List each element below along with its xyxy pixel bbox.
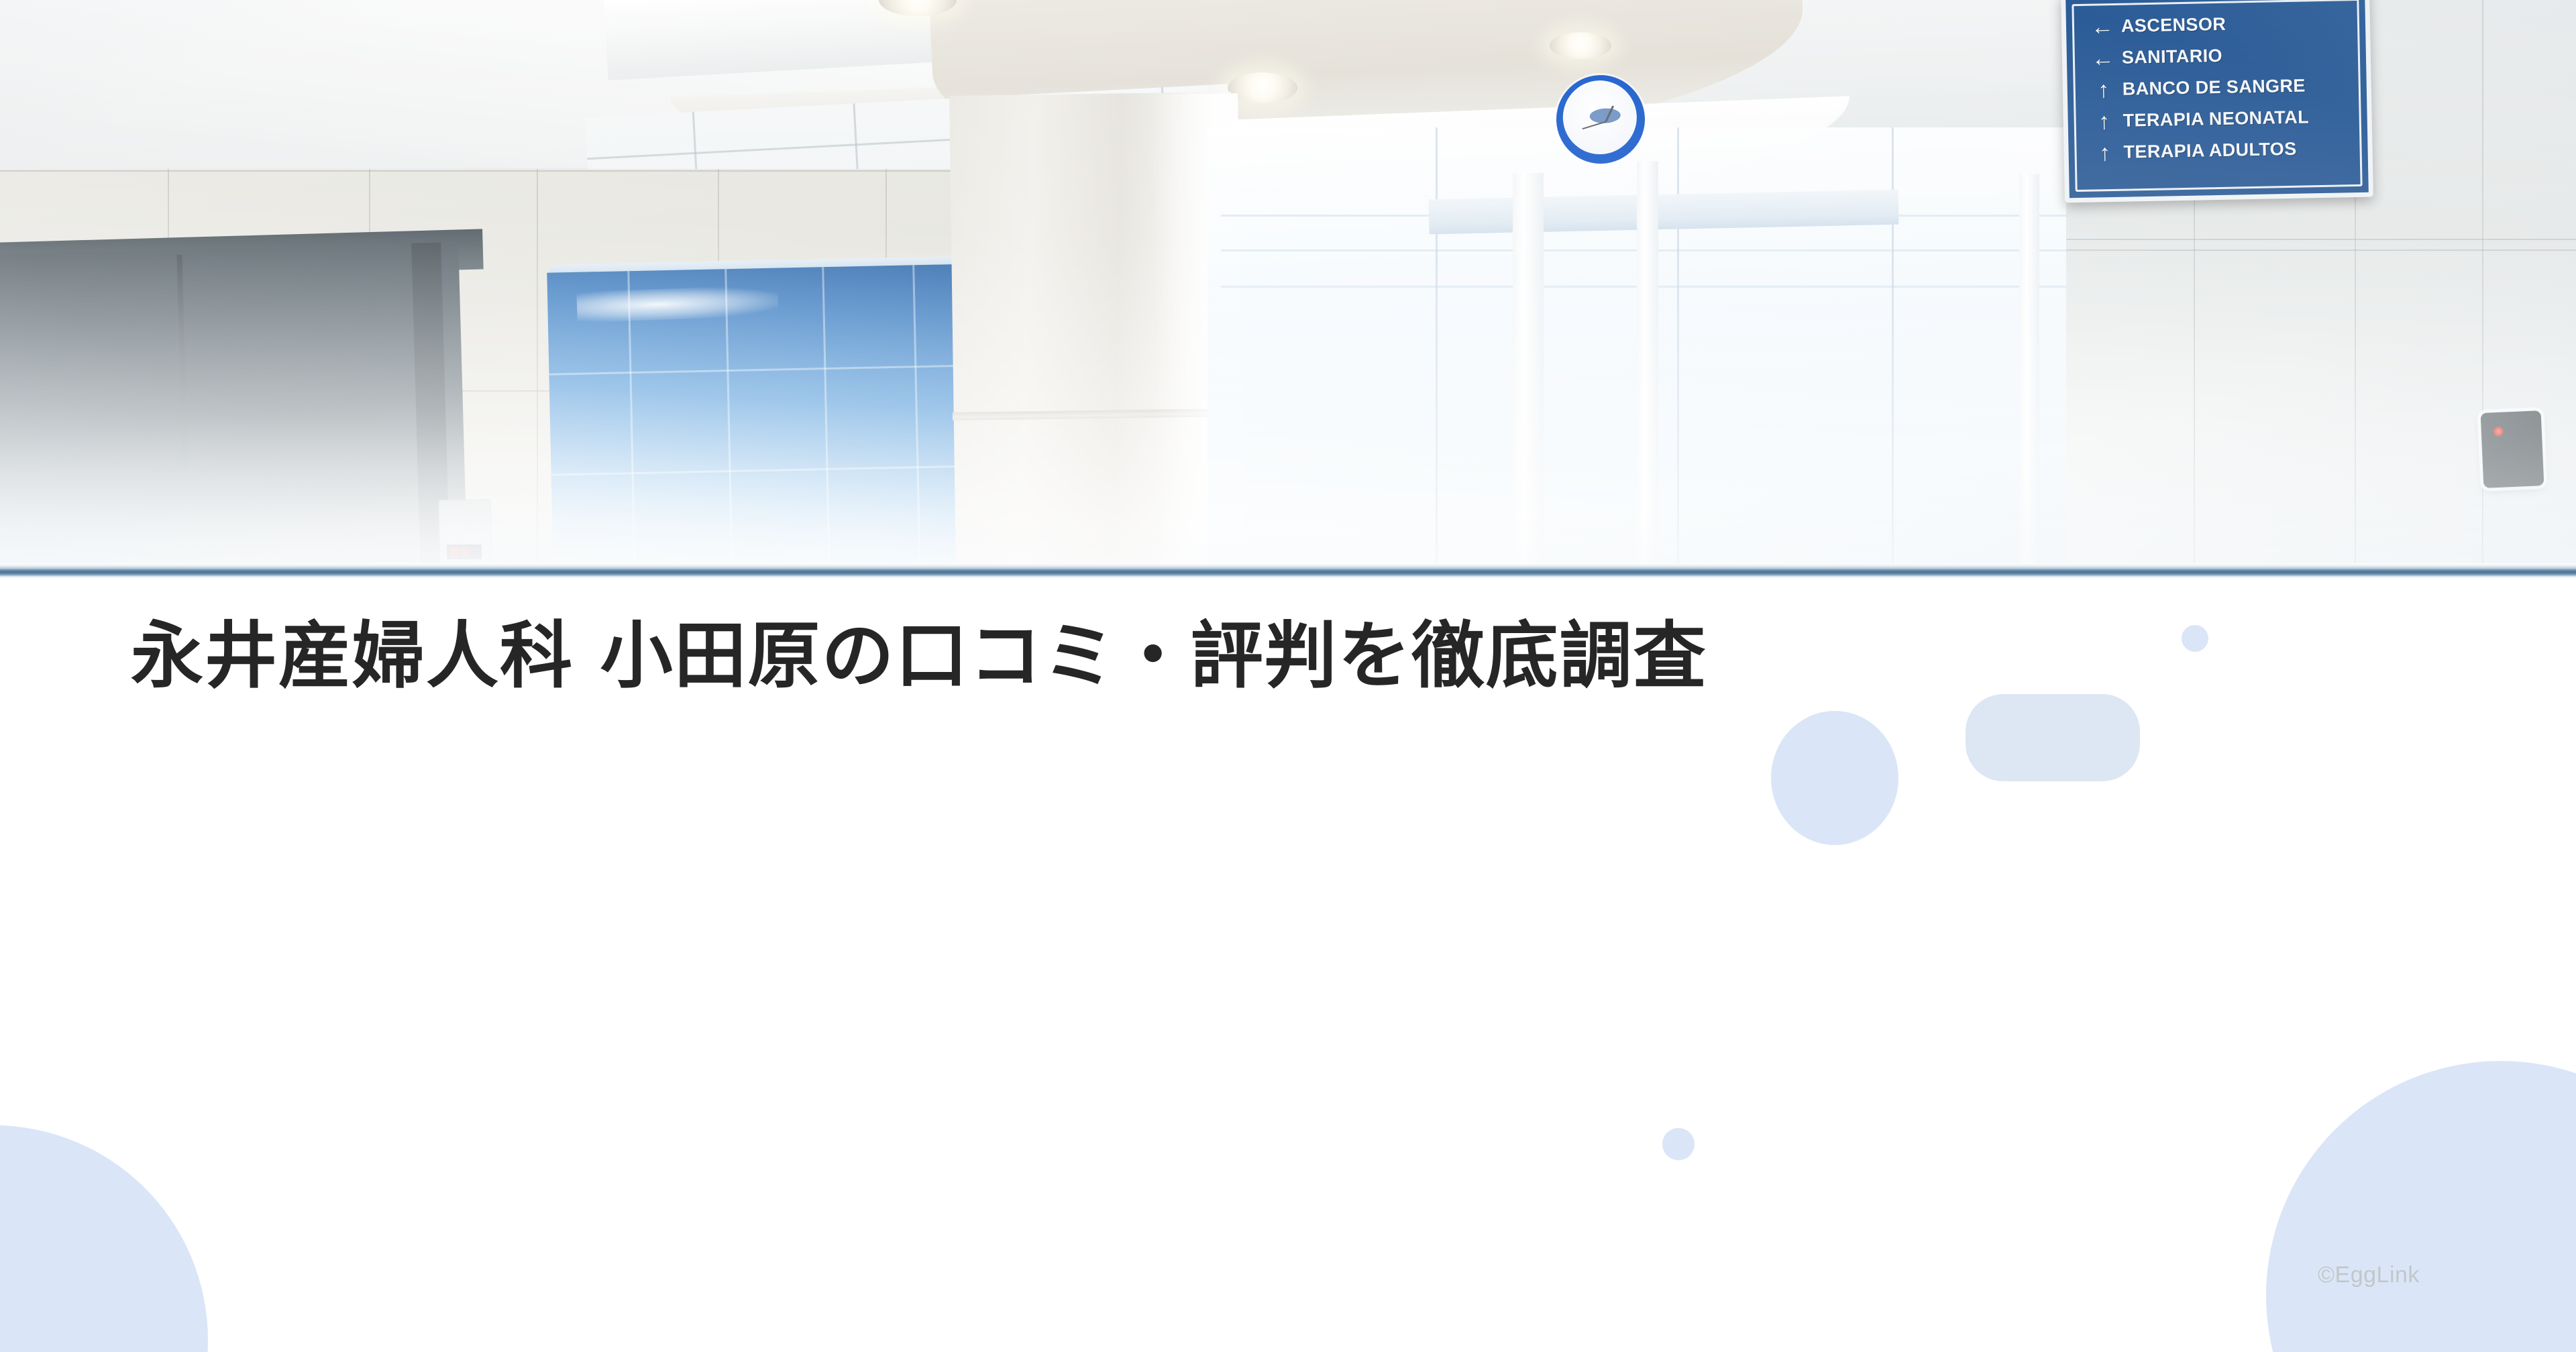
decoration-circle-medium bbox=[1771, 711, 1898, 845]
page-title: 永井産婦人科 小田原の口コミ・評判を徹底調査 bbox=[131, 610, 2412, 703]
elevator-indicator-led bbox=[447, 545, 482, 559]
left-arrow-icon: ← bbox=[2084, 15, 2122, 38]
sign-row: ↑ TERAPIA ADULTOS bbox=[2086, 132, 2357, 169]
section-divider bbox=[0, 563, 2576, 578]
sign-row: ↑ TERAPIA NEONATAL bbox=[2085, 101, 2357, 137]
up-arrow-icon: ↑ bbox=[2086, 141, 2124, 164]
downlight-icon bbox=[1228, 72, 1297, 103]
card-reader-device bbox=[2481, 410, 2544, 488]
glass-post bbox=[1637, 161, 1658, 571]
sign-row: ↑ BANCO DE SANGRE bbox=[2084, 69, 2356, 106]
sign-row: ← ASCENSOR bbox=[2084, 6, 2355, 43]
directional-sign: ← ASCENSOR ← SANITARIO ↑ BANCO DE SANGRE… bbox=[2061, 0, 2373, 203]
sign-row-list: ← ASCENSOR ← SANITARIO ↑ BANCO DE SANGRE… bbox=[2084, 6, 2357, 169]
sign-label: ASCENSOR bbox=[2121, 14, 2226, 37]
sign-label: BANCO DE SANGRE bbox=[2123, 75, 2306, 99]
hero-photo: ← ASCENSOR ← SANITARIO ↑ BANCO DE SANGRE… bbox=[0, 0, 2576, 571]
slide-root: ← ASCENSOR ← SANITARIO ↑ BANCO DE SANGRE… bbox=[0, 0, 2576, 1352]
clock-minute-hand bbox=[1582, 121, 1605, 129]
glass-post bbox=[2019, 174, 2039, 571]
sign-row: ← SANITARIO bbox=[2084, 38, 2355, 74]
decoration-dot-small bbox=[1662, 1128, 1695, 1160]
decoration-circle-bottom-left bbox=[0, 1125, 208, 1352]
sign-label: SANITARIO bbox=[2122, 46, 2223, 68]
left-arrow-icon: ← bbox=[2084, 46, 2123, 70]
downlight-icon bbox=[1550, 32, 1611, 59]
elevator-doors bbox=[0, 241, 468, 571]
up-arrow-icon: ↑ bbox=[2084, 78, 2123, 101]
sign-label: TERAPIA ADULTOS bbox=[2123, 139, 2297, 163]
elevator-call-panel bbox=[439, 499, 493, 571]
clock-face bbox=[1561, 78, 1639, 156]
watermark-credit: ©EggLink bbox=[2318, 1262, 2420, 1288]
up-arrow-icon: ↑ bbox=[2085, 109, 2123, 133]
decoration-circle-bottom-right bbox=[2266, 1061, 2576, 1352]
card-reader-led-icon bbox=[2493, 427, 2504, 437]
decoration-rounded-rect bbox=[1966, 694, 2140, 781]
glass-post bbox=[1513, 173, 1544, 571]
sign-label: TERAPIA NEONATAL bbox=[2123, 107, 2309, 131]
